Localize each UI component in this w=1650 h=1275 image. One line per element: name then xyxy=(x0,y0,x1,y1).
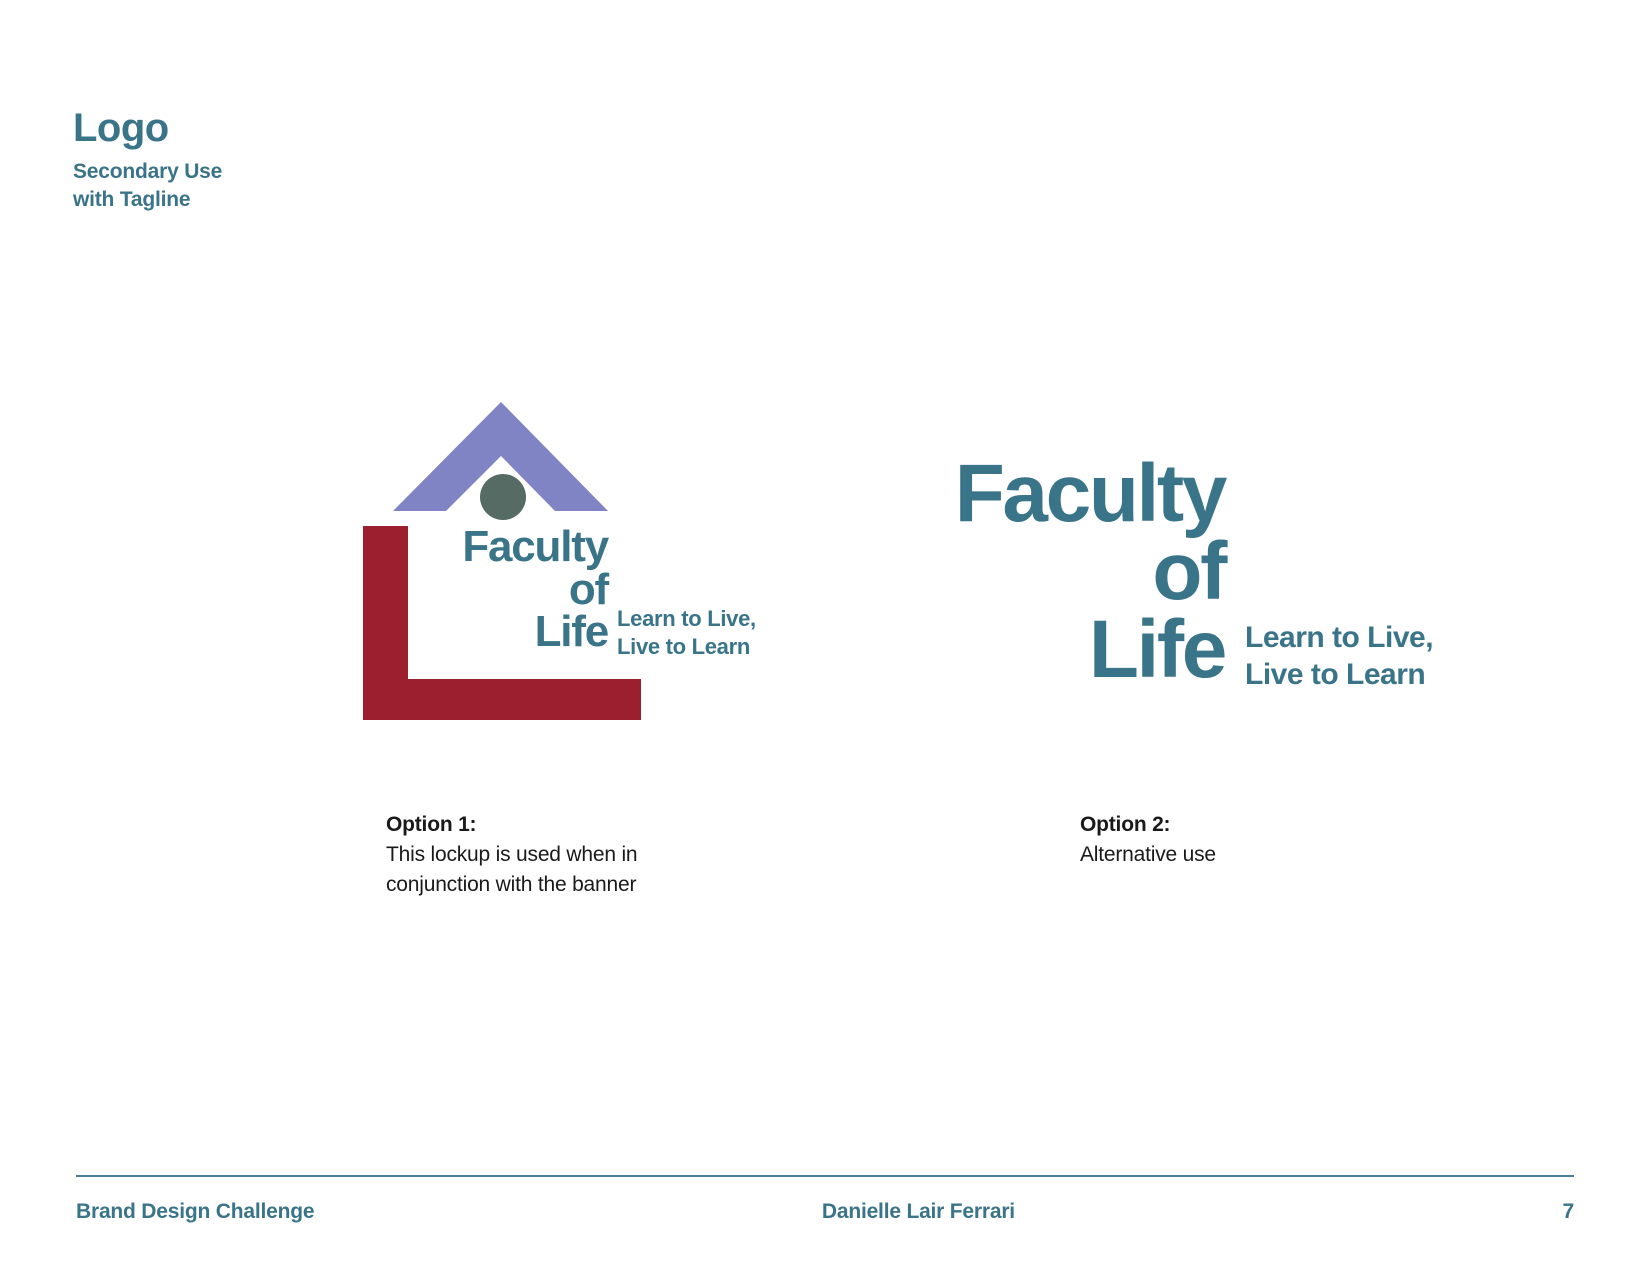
option-1-caption: Option 1: This lockup is used when in co… xyxy=(386,810,637,899)
option-1-tagline: Learn to Live, Live to Learn xyxy=(617,605,756,660)
option-2-logo-lockup: Faculty of Life Learn to Live, Live to L… xyxy=(940,455,1500,695)
option-2-wordmark-line-2: of xyxy=(940,533,1225,611)
option-1-caption-title: Option 1: xyxy=(386,810,637,840)
option-2-tagline: Learn to Live, Live to Learn xyxy=(1245,620,1433,693)
option-2-caption: Option 2: Alternative use xyxy=(1080,810,1216,870)
footer-divider xyxy=(76,1175,1574,1177)
option-1-wordmark-line-3: Life xyxy=(358,611,608,654)
page-subtitle-line-2: with Tagline xyxy=(73,186,222,214)
option-2-wordmark-line-3: Life xyxy=(940,611,1225,689)
page-subtitle-line-1: Secondary Use xyxy=(73,158,222,186)
option-2-wordmark: Faculty of Life xyxy=(940,455,1225,689)
slide-page: Logo Secondary Use with Tagline Faculty … xyxy=(0,0,1650,1275)
page-subtitle: Secondary Use with Tagline xyxy=(73,158,222,213)
option-2-caption-title: Option 2: xyxy=(1080,810,1216,840)
slide-header: Logo Secondary Use with Tagline xyxy=(73,108,222,213)
option-2-tagline-line-2: Live to Learn xyxy=(1245,657,1433,694)
option-1-wordmark: Faculty of Life xyxy=(358,526,608,654)
footer-author-name: Danielle Lair Ferrari xyxy=(314,1200,1562,1224)
slide-footer: Brand Design Challenge Danielle Lair Fer… xyxy=(76,1200,1574,1224)
option-2-tagline-line-1: Learn to Live, xyxy=(1245,620,1433,657)
circle-window-shape xyxy=(480,474,526,520)
footer-project-title: Brand Design Challenge xyxy=(76,1200,314,1224)
page-title: Logo xyxy=(73,108,222,148)
option-1-tagline-line-1: Learn to Live, xyxy=(617,605,756,633)
option-1-wordmark-line-2: of xyxy=(358,569,608,612)
option-1-tagline-line-2: Live to Learn xyxy=(617,633,756,661)
footer-page-number: 7 xyxy=(1563,1200,1574,1224)
option-2-caption-line-1: Alternative use xyxy=(1080,840,1216,870)
option-1-caption-line-2: conjunction with the banner xyxy=(386,870,637,900)
option-1-wordmark-line-1: Faculty xyxy=(358,526,608,569)
option-1-caption-line-1: This lockup is used when in xyxy=(386,840,637,870)
option-1-logo-lockup: Faculty of Life Learn to Live, Live to L… xyxy=(358,398,798,723)
option-2-wordmark-line-1: Faculty xyxy=(940,455,1225,533)
